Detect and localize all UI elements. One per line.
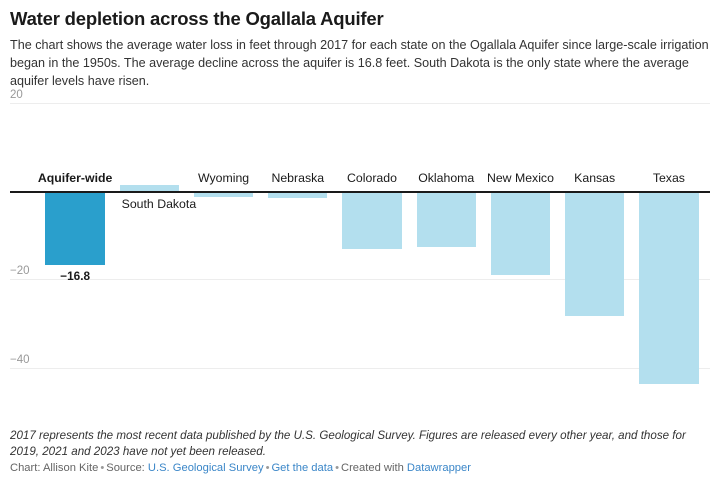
bar-kansas[interactable] (565, 191, 624, 315)
bar-texas[interactable] (639, 191, 698, 384)
credit-get-data-link[interactable]: Get the data (271, 462, 333, 474)
plot-inner: 20 −20 −40 Aquifer-wide−16.8South Dakota… (10, 103, 710, 403)
bar-label-wyoming: Wyoming (198, 172, 249, 184)
bar-group: Kansas (558, 103, 632, 403)
bar-oklahoma[interactable] (417, 191, 476, 247)
bar-group: Aquifer-wide−16.8 (38, 103, 112, 403)
bar-label-colorado: Colorado (347, 172, 397, 184)
bar-group: Nebraska (261, 103, 335, 403)
bar-label-nebraska: Nebraska (271, 172, 324, 184)
credit-separator-3: • (333, 462, 341, 474)
bar-series: Aquifer-wide−16.8South DakotaWyomingNebr… (10, 103, 710, 403)
bar-group: Wyoming (186, 103, 260, 403)
bar-colorado[interactable] (342, 191, 401, 249)
credit-datawrapper-link[interactable]: Datawrapper (407, 462, 471, 474)
y-axis-tick-20: 20 (10, 90, 23, 102)
bar-label-kansas: Kansas (574, 172, 615, 184)
credit-created-label: Created with (341, 462, 404, 474)
chart-page: Water depletion across the Ogallala Aqui… (0, 8, 720, 477)
bar-group: New Mexico (483, 103, 557, 403)
bar-label-oklahoma: Oklahoma (418, 172, 474, 184)
bar-label-aquifer-wide: Aquifer-wide (38, 172, 112, 184)
bar-value-aquifer-wide: −16.8 (60, 271, 90, 283)
bar-group: Colorado (335, 103, 409, 403)
bar-aquifer-wide[interactable] (45, 191, 104, 265)
bar-new-mexico[interactable] (491, 191, 550, 275)
footer-note: 2017 represents the most recent data pub… (10, 428, 710, 460)
bar-label-texas: Texas (653, 172, 685, 184)
bar-group: Oklahoma (409, 103, 483, 403)
chart-description: The chart shows the average water loss i… (10, 37, 710, 91)
bar-group: Texas (632, 103, 706, 403)
page-title: Water depletion across the Ogallala Aqui… (10, 8, 710, 30)
zero-axis-line (10, 191, 710, 193)
plot-area: 20 −20 −40 Aquifer-wide−16.8South Dakota… (0, 103, 720, 413)
bar-label-new-mexico: New Mexico (487, 172, 554, 184)
bar-label-south-dakota: South Dakota (122, 198, 197, 210)
credit-source-label: Source: (106, 462, 145, 474)
credit-source-link[interactable]: U.S. Geological Survey (148, 462, 264, 474)
bar-south-dakota[interactable] (120, 185, 179, 192)
credit-author: Chart: Allison Kite (10, 462, 98, 474)
bar-group: South Dakota (112, 103, 186, 403)
